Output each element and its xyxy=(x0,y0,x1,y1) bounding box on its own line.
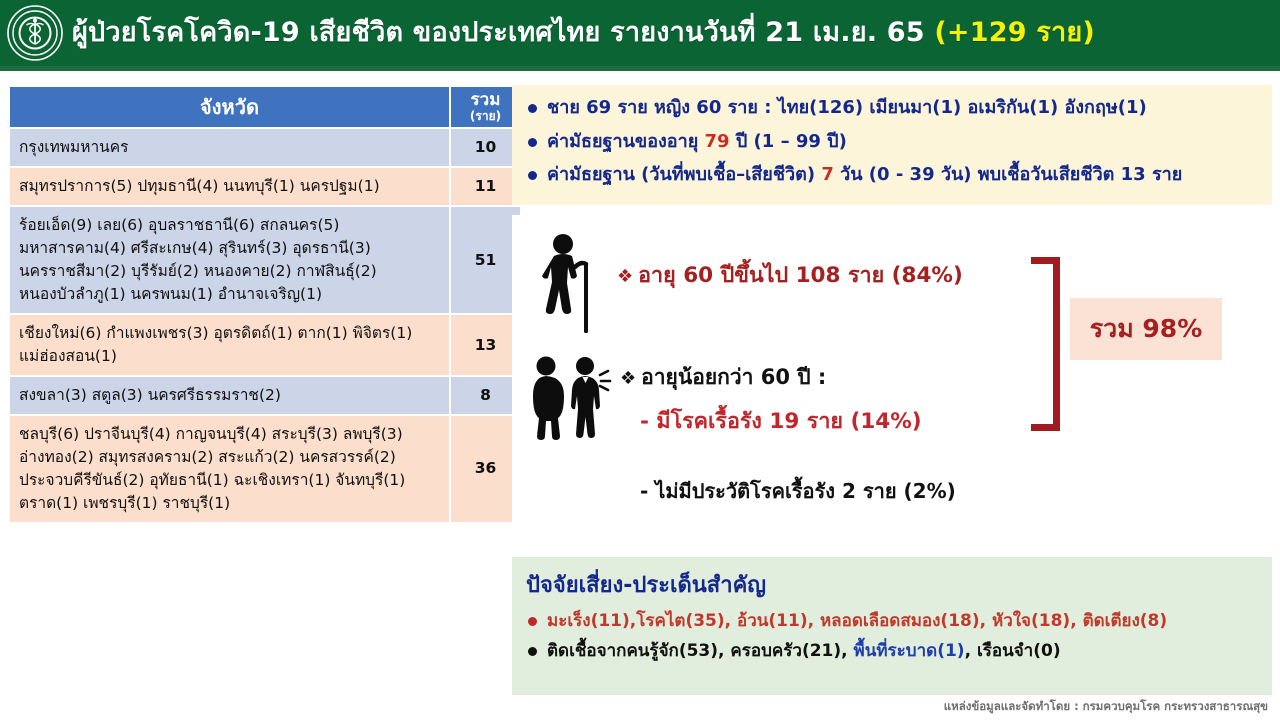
diamond-bullet-icon: ❖ xyxy=(620,368,636,389)
age-60-plus-text: อายุ 60 ปีขึ้นไป 108 ราย (84%) xyxy=(638,263,963,288)
table-row: เชียงใหม่(6) กำแพงเพชร(3) อุตรดิตถ์(1) ต… xyxy=(9,314,521,376)
elderly-person-with-cane-icon xyxy=(534,233,608,338)
diamond-bullet-icon: ❖ xyxy=(617,266,633,287)
header-accent-bar xyxy=(0,66,1280,71)
no-chronic-disease-line: - ไม่มีประวัติโรคเรื้อรัง 2 ราย (2%) xyxy=(640,475,956,507)
summary-item: ค่ามัธยฐานของอายุ 79 ปี (1 – 99 ปี) xyxy=(512,125,1272,159)
cell-provinces: สงขลา(3) สตูล(3) นครศรีธรรมราช(2) xyxy=(9,376,450,415)
summary-item-text: ค่ามัธยฐาน (วันที่พบเชื้อ–เสียชีวิต) 7 ว… xyxy=(547,164,1272,186)
summary-text-highlight: 79 xyxy=(705,131,730,152)
summary-item-text: ชาย 69 ราย หญิง 60 ราย : ไทย(126) เมียนม… xyxy=(547,97,1272,119)
risk-factor-item: ติดเชื้อจากคนรู้จัก(53), ครอบครัว(21), พ… xyxy=(512,636,1272,666)
cell-provinces: กรุงเทพมหานคร xyxy=(9,128,450,167)
page-header: ผู้ป่วยโรคโควิด-19 เสียชีวิต ของประเทศไท… xyxy=(0,0,1280,66)
summary-text-post: ปี (1 – 99 ปี) xyxy=(730,131,847,152)
summary-text-pre: ค่ามัธยฐานของอายุ xyxy=(547,131,705,152)
bullet-icon xyxy=(528,138,537,147)
risk-text-pre: ติดเชื้อจากคนรู้จัก(53), ครอบครัว(21), xyxy=(547,641,854,661)
cell-total: 36 xyxy=(450,415,521,523)
total-percentage-badge: รวม 98% xyxy=(1070,298,1222,360)
bullet-icon xyxy=(528,171,537,180)
risk-factors-title: ปัจจัยเสี่ยง-ประเด็นสำคัญ xyxy=(512,565,1272,606)
summary-item: ค่ามัธยฐาน (วันที่พบเชื้อ–เสียชีวิต) 7 ว… xyxy=(512,158,1272,192)
source-credit: แหล่งข้อมูลและจัดทำโดย : กรมควบคุมโรค กร… xyxy=(944,698,1268,716)
province-death-table: จังหวัด รวม (ราย) กรุงเทพมหานคร 10 สมุทร… xyxy=(8,85,522,524)
column-header-total: รวม (ราย) xyxy=(450,86,521,128)
table-row: สงขลา(3) สตูล(3) นครศรีธรรมราช(2) 8 xyxy=(9,376,521,415)
bullet-icon xyxy=(528,617,537,626)
table-row: กรุงเทพมหานคร 10 xyxy=(9,128,521,167)
cell-total: 11 xyxy=(450,167,521,206)
summary-text-pre: ชาย 69 ราย หญิง 60 ราย : ไทย(126) เมียนม… xyxy=(547,97,1147,118)
table-header-row: จังหวัด รวม (ราย) xyxy=(9,86,521,128)
cell-provinces: ชลบุรี(6) ปราจีนบุรี(4) กาญจนบุรี(4) สระ… xyxy=(9,415,450,523)
risk-factor-text: มะเร็ง(11),โรคไต(35), อ้วน(11), หลอดเลือ… xyxy=(547,611,1167,631)
risk-text-mid: พื้นที่ระบาด(1) xyxy=(854,641,965,661)
column-header-province: จังหวัด xyxy=(9,86,450,128)
cell-provinces: สมุทรปราการ(5) ปทุมธานี(4) นนทบุรี(1) นค… xyxy=(9,167,450,206)
obese-and-coughing-person-icon xyxy=(522,355,622,440)
risk-factor-item: มะเร็ง(11),โรคไต(35), อ้วน(11), หลอดเลือ… xyxy=(512,606,1272,636)
infographic-page: ผู้ป่วยโรคโควิด-19 เสียชีวิต ของประเทศไท… xyxy=(0,0,1280,720)
table-row: ชลบุรี(6) ปราจีนบุรี(4) กาญจนบุรี(4) สระ… xyxy=(9,415,521,523)
table-row: สมุทรปราการ(5) ปทุมธานี(4) นนทบุรี(1) นค… xyxy=(9,167,521,206)
risk-text-pre: มะเร็ง(11),โรคไต(35), อ้วน(11), หลอดเลือ… xyxy=(547,611,1167,631)
bullet-icon xyxy=(528,647,537,656)
table-row: ร้อยเอ็ด(9) เลย(6) อุบลราชธานี(6) สกลนคร… xyxy=(9,206,521,314)
age-breakdown-block: ❖อายุ 60 ปีขึ้นไป 108 ราย (84%) ❖อายุน้อ… xyxy=(512,215,1272,545)
bullet-icon xyxy=(528,104,537,113)
page-title: ผู้ป่วยโรคโควิด-19 เสียชีวิต ของประเทศไท… xyxy=(72,19,1095,47)
risk-text-post: , เรือนจำ(0) xyxy=(965,641,1061,661)
page-title-new-cases: (+129 ราย) xyxy=(934,17,1095,48)
summary-text-pre: ค่ามัธยฐาน (วันที่พบเชื้อ–เสียชีวิต) xyxy=(547,164,821,185)
age-60-plus-line: ❖อายุ 60 ปีขึ้นไป 108 ราย (84%) xyxy=(617,258,963,292)
cell-total: 51 xyxy=(450,206,521,314)
summary-item-text: ค่ามัธยฐานของอายุ 79 ปี (1 – 99 ปี) xyxy=(547,131,1272,153)
cell-total: 13 xyxy=(450,314,521,376)
page-title-main: ผู้ป่วยโรคโควิด-19 เสียชีวิต ของประเทศไท… xyxy=(72,17,925,48)
cell-provinces: เชียงใหม่(6) กำแพงเพชร(3) อุตรดิตถ์(1) ต… xyxy=(9,314,450,376)
age-under-60-text: อายุน้อยกว่า 60 ปี : xyxy=(641,365,826,389)
age-under-60-line: ❖อายุน้อยกว่า 60 ปี : xyxy=(620,361,826,394)
chronic-disease-line: - มีโรคเรื้อรัง 19 ราย (14%) xyxy=(640,404,922,438)
summary-text-post: วัน (0 - 39 วัน) พบเชื้อวันเสียชีวิต 13 … xyxy=(834,164,1182,185)
summary-text-highlight: 7 xyxy=(821,164,834,185)
summary-item: ชาย 69 ราย หญิง 60 ราย : ไทย(126) เมียนม… xyxy=(512,91,1272,125)
table-body: กรุงเทพมหานคร 10 สมุทรปราการ(5) ปทุมธานี… xyxy=(9,128,521,522)
grouping-bracket xyxy=(1031,257,1060,431)
risk-factor-text: ติดเชื้อจากคนรู้จัก(53), ครอบครัว(21), พ… xyxy=(547,641,1061,661)
demographics-summary-panel: ชาย 69 ราย หญิง 60 ราย : ไทย(126) เมียนม… xyxy=(512,85,1272,205)
cell-provinces: ร้อยเอ็ด(9) เลย(6) อุบลราชธานี(6) สกลนคร… xyxy=(9,206,450,314)
province-table-wrapper: จังหวัด รวม (ราย) กรุงเทพมหานคร 10 สมุทร… xyxy=(8,85,508,524)
cell-total: 10 xyxy=(450,128,521,167)
ministry-seal-icon xyxy=(4,2,66,64)
column-header-total-unit: (ราย) xyxy=(453,110,518,123)
column-header-total-label: รวม xyxy=(471,90,501,110)
cell-total: 8 xyxy=(450,376,521,415)
risk-factors-panel: ปัจจัยเสี่ยง-ประเด็นสำคัญ มะเร็ง(11),โรค… xyxy=(512,557,1272,695)
